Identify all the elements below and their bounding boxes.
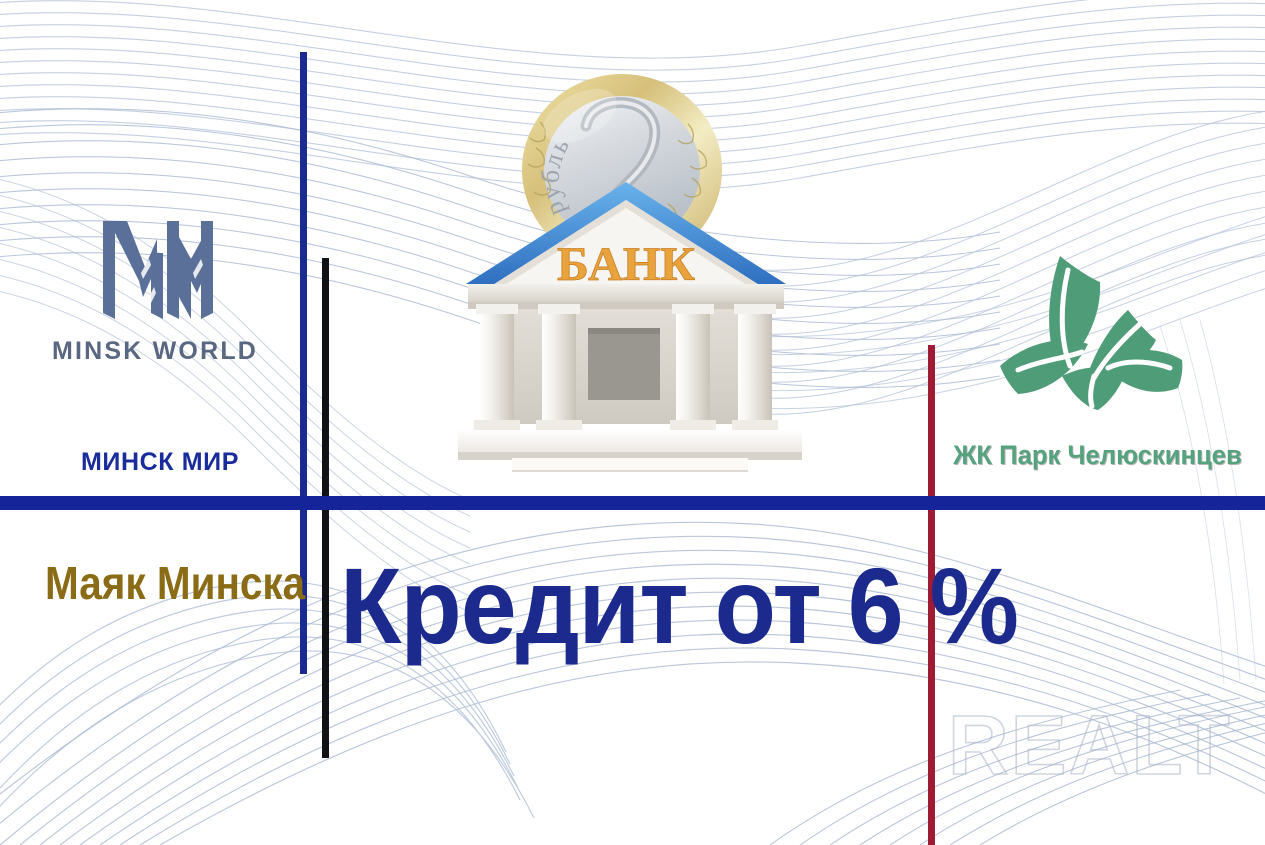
green-leaves-icon [990, 248, 1190, 416]
bank-illustration: рубль БАНК [420, 52, 840, 472]
credit-offer-banner: REALT MINSK WORLD [0, 0, 1265, 845]
bank-doorway [588, 328, 660, 400]
minsk-world-wordmark: MINSK WORLD [40, 337, 270, 366]
minsk-mir-label: МИНСК МИР [40, 448, 280, 477]
park-chelyuskintsev-logo [955, 248, 1225, 421]
park-chelyuskintsev-label: ЖК Парк Челюскинцев [938, 440, 1256, 471]
bank-sign-text: БАНК [557, 238, 695, 291]
horizontal-divider-blue [0, 496, 1265, 510]
headline-text: Кредит от 6 % [340, 552, 898, 660]
mw-monogram-icon [97, 215, 213, 327]
bank-step-upper [512, 458, 748, 472]
minsk-world-logo: MINSK WORLD [40, 215, 270, 366]
realt-watermark: REALT [948, 697, 1232, 794]
mayak-minska-label: Маяк Минска [45, 556, 265, 610]
